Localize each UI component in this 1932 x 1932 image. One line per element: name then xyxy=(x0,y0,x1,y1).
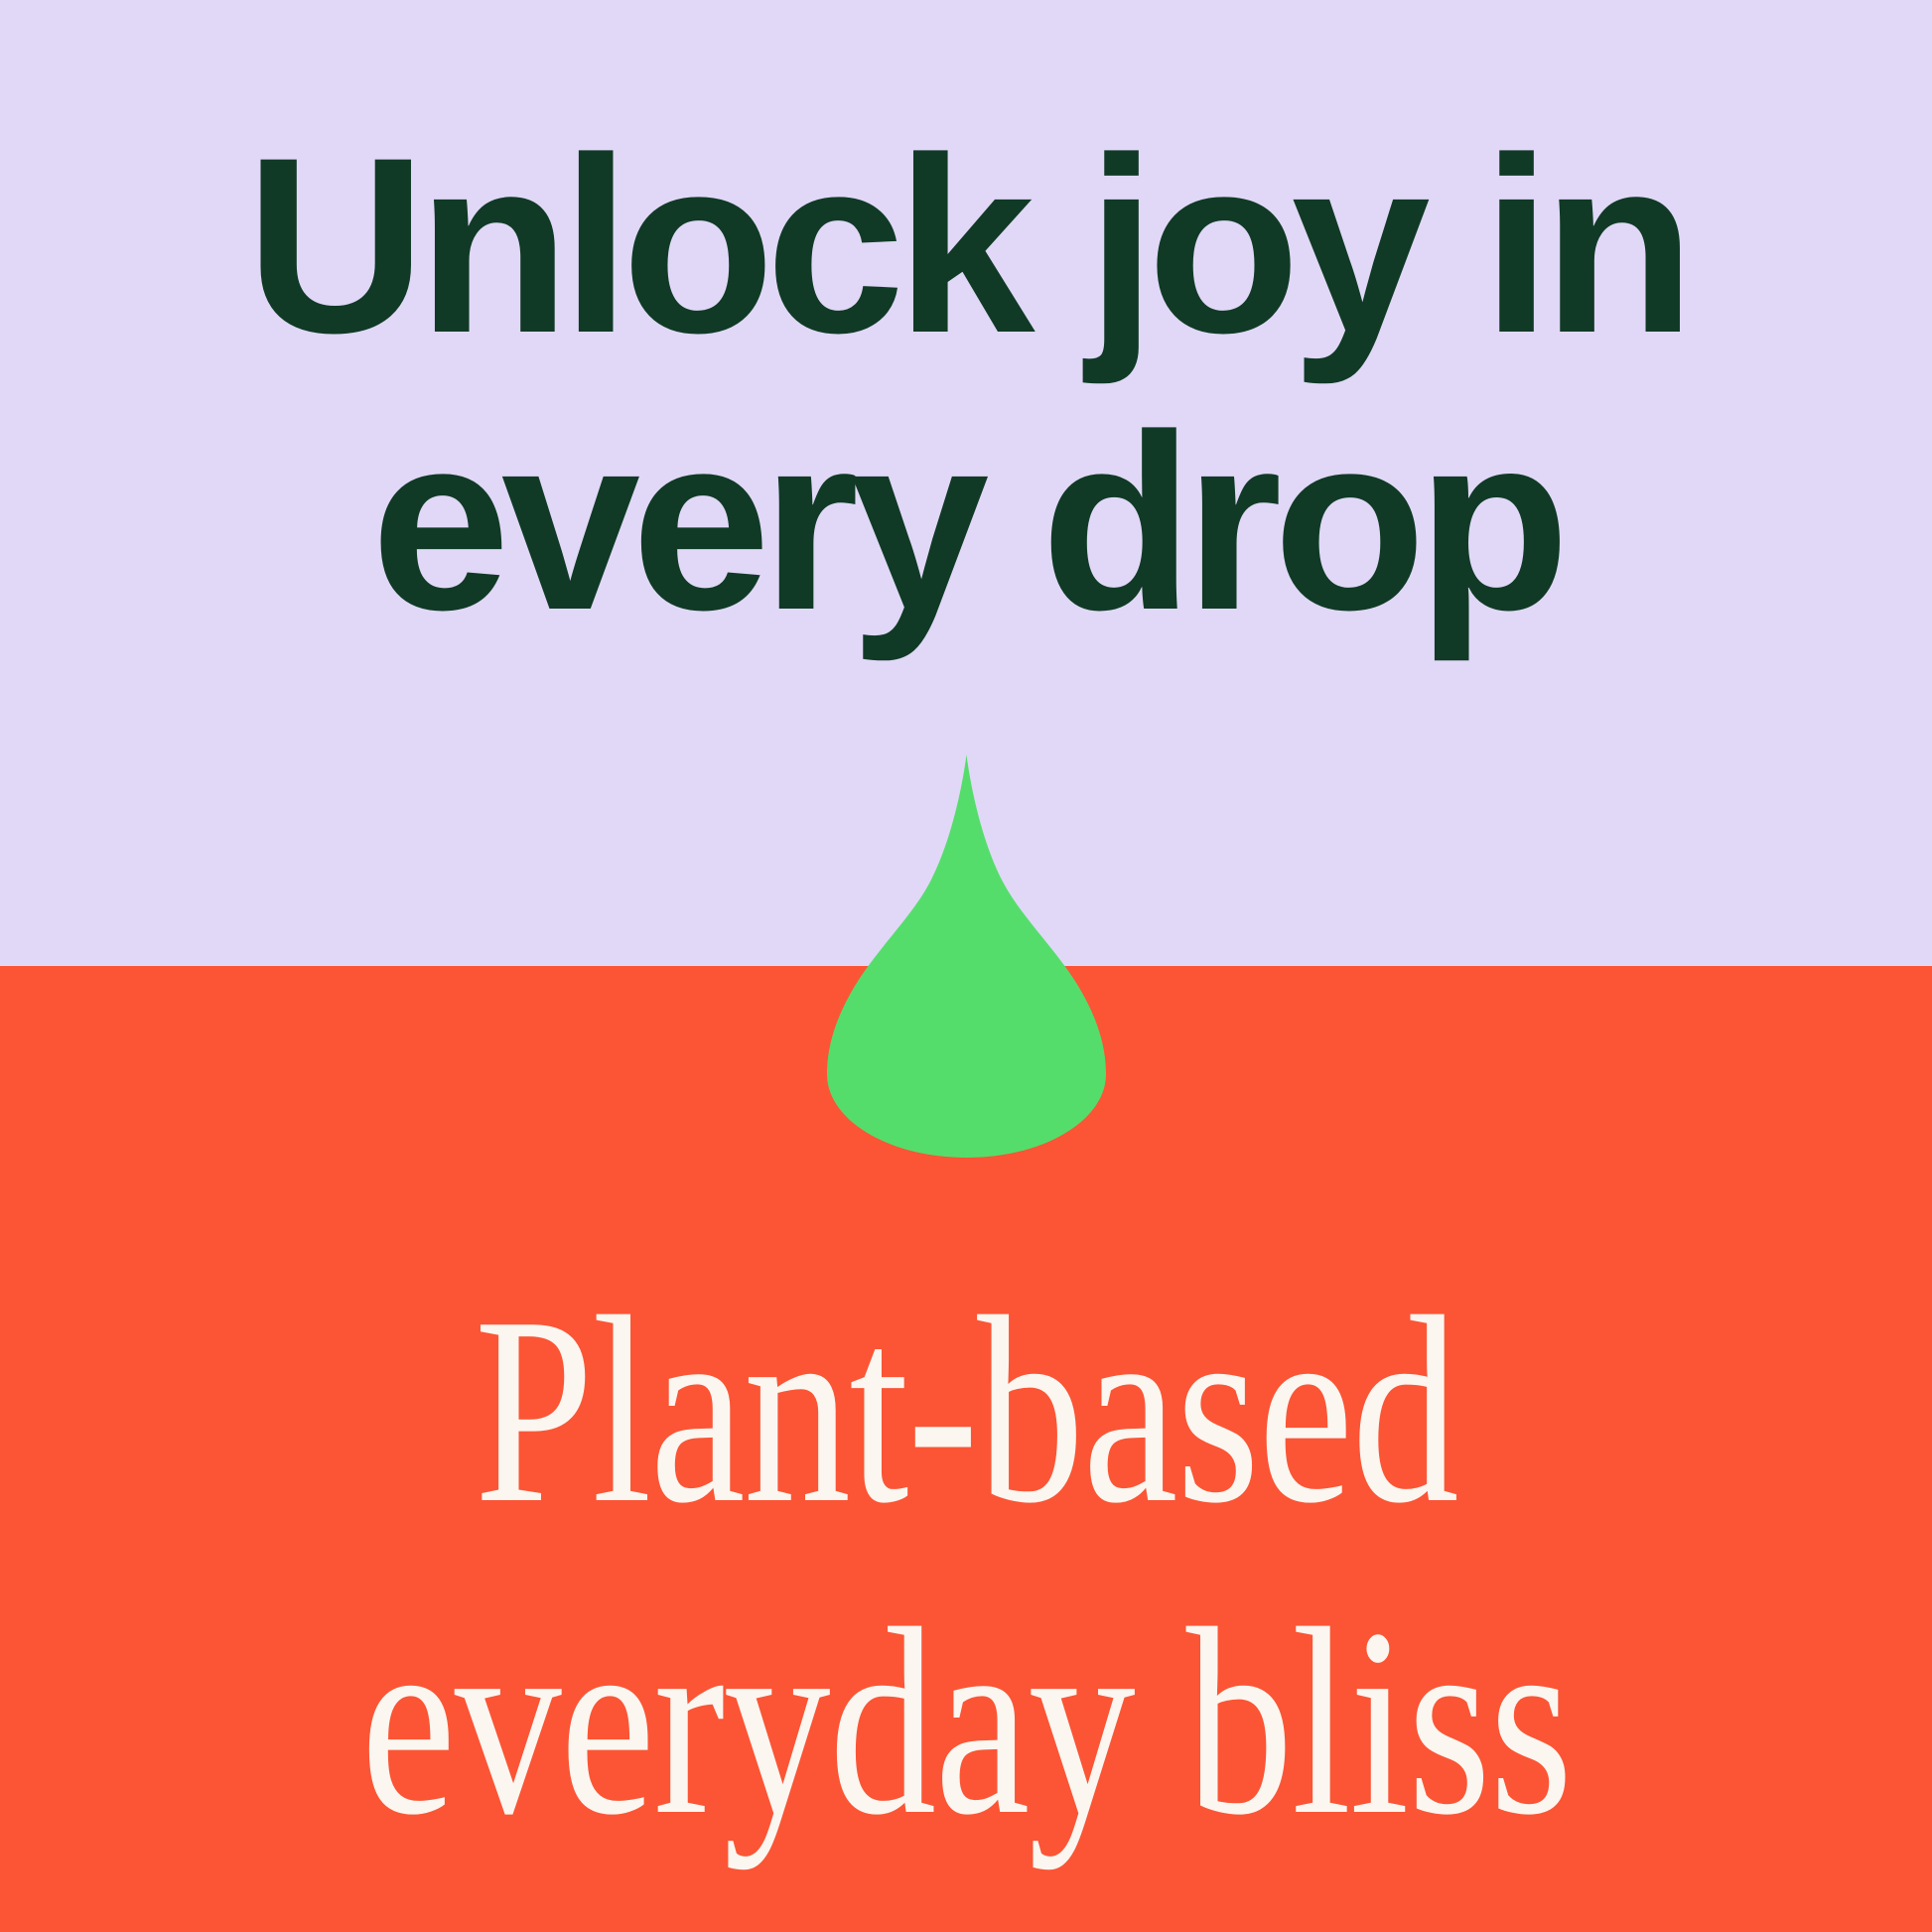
headline-block: Unlock joy in every drop xyxy=(0,0,1932,755)
poster-canvas: Unlock joy in every drop Plant-based eve… xyxy=(0,0,1932,1932)
water-drop-icon xyxy=(827,755,1106,1158)
subline-line-2: everyday bliss xyxy=(360,1567,1571,1878)
subline-line-1: Plant-based xyxy=(475,1255,1457,1567)
headline-line-1: Unlock joy in xyxy=(245,107,1686,384)
headline-line-2: every drop xyxy=(371,384,1562,661)
subline-block: Plant-based everyday bliss xyxy=(0,1172,1932,1866)
